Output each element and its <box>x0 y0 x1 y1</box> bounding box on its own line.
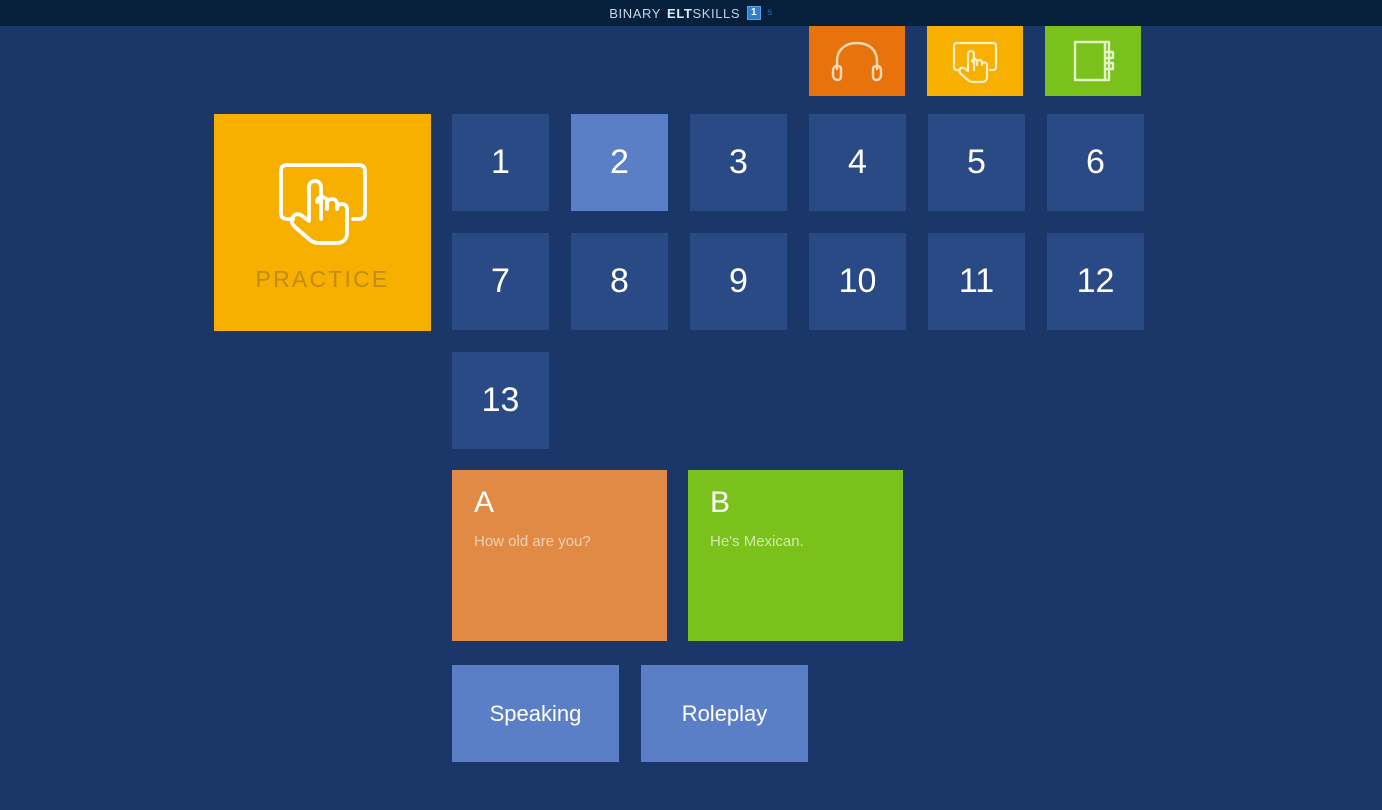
app-header-bar: BINARYELTSKILLS 1 s <box>0 0 1382 26</box>
exercise-tile-10[interactable]: 10 <box>809 233 906 330</box>
exercise-tile-5[interactable]: 5 <box>928 114 1025 211</box>
hand-touch-icon <box>269 153 377 254</box>
exercise-tile-2[interactable]: 2 <box>571 114 668 211</box>
mode-tile-group <box>809 26 1141 96</box>
hand-touch-icon <box>948 37 1002 85</box>
logo-skills-text: SKILLS <box>692 7 740 20</box>
logo-binary-text: BINARY <box>609 7 661 20</box>
exercise-tile-9[interactable]: 9 <box>690 233 787 330</box>
exercise-tile-4[interactable]: 4 <box>809 114 906 211</box>
exercise-tile-13[interactable]: 13 <box>452 352 549 449</box>
app-logo: BINARYELTSKILLS 1 s <box>609 6 772 20</box>
headphones-icon <box>830 39 884 83</box>
logo-elt-text: ELT <box>667 7 692 20</box>
dialogue-card-b[interactable]: B He's Mexican. <box>688 470 903 641</box>
logo-level-badge: 1 <box>747 6 761 20</box>
mode-tile-listening[interactable] <box>809 26 905 96</box>
dialogue-card-b-text: He's Mexican. <box>710 532 881 552</box>
exercise-number-grid: 1 2 3 4 5 6 7 8 9 10 11 12 13 <box>452 114 1164 449</box>
dialogue-card-a-text: How old are you? <box>474 532 645 552</box>
speaking-button[interactable]: Speaking <box>452 665 619 762</box>
exercise-tile-7[interactable]: 7 <box>452 233 549 330</box>
exercise-tile-3[interactable]: 3 <box>690 114 787 211</box>
mode-tile-practice[interactable] <box>927 26 1023 96</box>
exercise-tile-12[interactable]: 12 <box>1047 233 1144 330</box>
practice-section-tile[interactable]: PRACTICE <box>214 114 431 331</box>
notebook-icon <box>1069 37 1117 85</box>
exercise-tile-1[interactable]: 1 <box>452 114 549 211</box>
dialogue-card-a-letter: A <box>474 488 645 518</box>
exercise-tile-11[interactable]: 11 <box>928 233 1025 330</box>
dialogue-card-group: A How old are you? B He's Mexican. <box>452 470 903 641</box>
roleplay-button[interactable]: Roleplay <box>641 665 808 762</box>
practice-tile-label: PRACTICE <box>256 266 390 293</box>
logo-suffix-text: s <box>767 8 773 18</box>
mode-tile-notebook[interactable] <box>1045 26 1141 96</box>
dialogue-card-b-letter: B <box>710 488 881 518</box>
exercise-tile-8[interactable]: 8 <box>571 233 668 330</box>
dialogue-card-a[interactable]: A How old are you? <box>452 470 667 641</box>
exercise-tile-6[interactable]: 6 <box>1047 114 1144 211</box>
activity-button-group: Speaking Roleplay <box>452 665 808 762</box>
